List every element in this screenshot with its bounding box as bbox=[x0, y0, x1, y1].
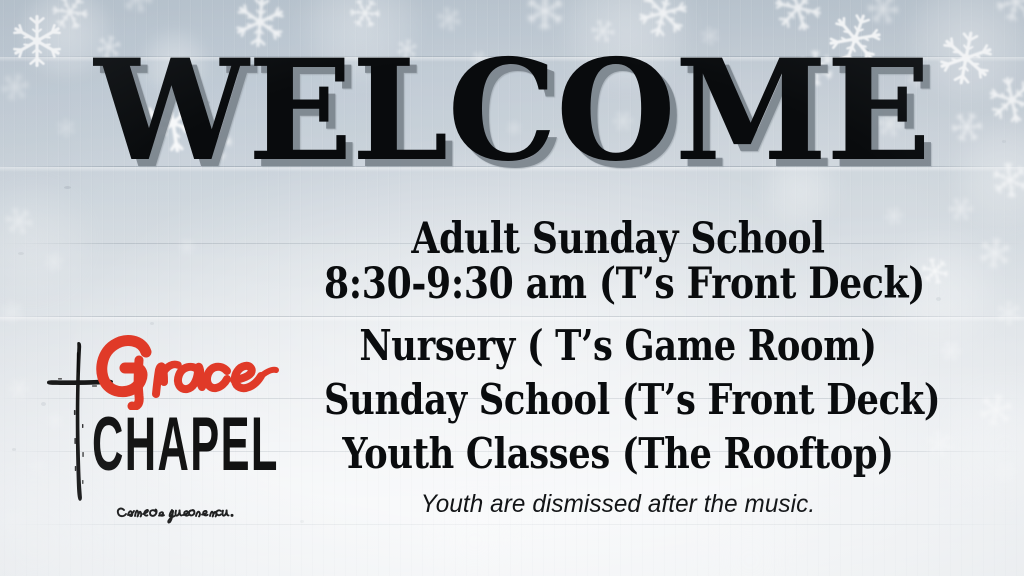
welcome-slide: WELCOME Adult Sunday School 8:30-9:30 am… bbox=[0, 0, 1024, 576]
vignette-overlay bbox=[0, 0, 1024, 576]
